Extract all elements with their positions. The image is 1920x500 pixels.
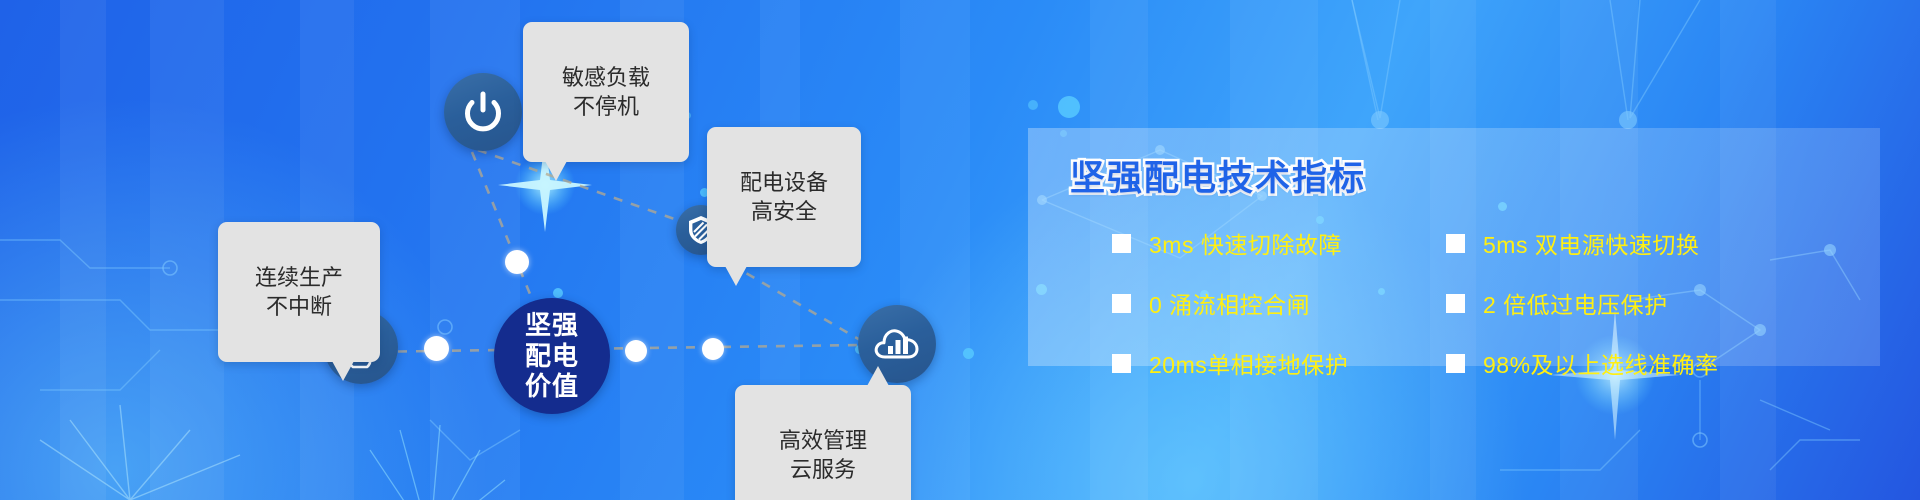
tech-specs-panel: 坚强配电技术指标 3ms 快速切除故障 5ms 双电源快速切换 0 涌流相控合闸… <box>1028 128 1880 366</box>
bullet-square-icon <box>1112 354 1131 373</box>
callout-cloud-label: 高效管理 云服务 <box>779 428 867 482</box>
bullet-square-icon <box>1112 294 1131 313</box>
callout-tail <box>725 266 747 286</box>
callout-power-label: 敏感负载 不停机 <box>562 65 650 119</box>
spec-item: 2 倍低过电压保护 <box>1446 286 1844 320</box>
callout-touch: 连续生产 不中断 <box>218 222 380 362</box>
cloud-chart-icon <box>873 324 921 364</box>
spec-text: 20ms单相接地保护 <box>1149 346 1348 380</box>
spec-text: 2 倍低过电压保护 <box>1483 286 1668 320</box>
waypoint-dot <box>702 338 724 360</box>
spec-item: 0 涌流相控合闸 <box>1112 286 1412 320</box>
spec-item: 20ms单相接地保护 <box>1112 346 1412 380</box>
callout-shield: 配电设备 高安全 <box>707 127 861 267</box>
bullet-square-icon <box>1446 354 1465 373</box>
spec-text: 3ms 快速切除故障 <box>1149 226 1342 260</box>
callout-shield-label: 配电设备 高安全 <box>740 170 828 224</box>
spec-text: 5ms 双电源快速切换 <box>1483 226 1699 260</box>
value-network-diagram: 坚强 配电 价值 敏感负载 不停机 配电设备 高安全 连续生产 不中断 高效管理… <box>0 0 1030 500</box>
panel-title: 坚强配电技术指标 <box>1070 150 1366 201</box>
callout-touch-label: 连续生产 不中断 <box>255 265 343 319</box>
callout-tail <box>545 161 567 181</box>
callout-tail <box>867 366 889 386</box>
spec-item: 5ms 双电源快速切换 <box>1446 226 1844 260</box>
callout-tail <box>332 361 354 381</box>
banner: 坚强 配电 价值 敏感负载 不停机 配电设备 高安全 连续生产 不中断 高效管理… <box>0 0 1920 500</box>
waypoint-dot <box>424 336 449 361</box>
waypoint-dot <box>625 340 647 362</box>
waypoint-dot <box>505 250 529 274</box>
power-button-icon <box>461 90 505 134</box>
hub-core[interactable]: 坚强 配电 价值 <box>494 298 610 414</box>
node-power[interactable] <box>444 73 522 151</box>
bullet-square-icon <box>1112 234 1131 253</box>
spec-grid: 3ms 快速切除故障 5ms 双电源快速切换 0 涌流相控合闸 2 倍低过电压保… <box>1112 226 1844 380</box>
bullet-square-icon <box>1446 294 1465 313</box>
spec-item: 3ms 快速切除故障 <box>1112 226 1412 260</box>
spec-text: 98%及以上选线准确率 <box>1483 346 1719 380</box>
bullet-square-icon <box>1446 234 1465 253</box>
spec-item: 98%及以上选线准确率 <box>1446 346 1844 380</box>
callout-power: 敏感负载 不停机 <box>523 22 689 162</box>
hub-label: 坚强 配电 价值 <box>525 310 579 402</box>
spec-text: 0 涌流相控合闸 <box>1149 286 1310 320</box>
callout-cloud: 高效管理 云服务 <box>735 385 911 500</box>
